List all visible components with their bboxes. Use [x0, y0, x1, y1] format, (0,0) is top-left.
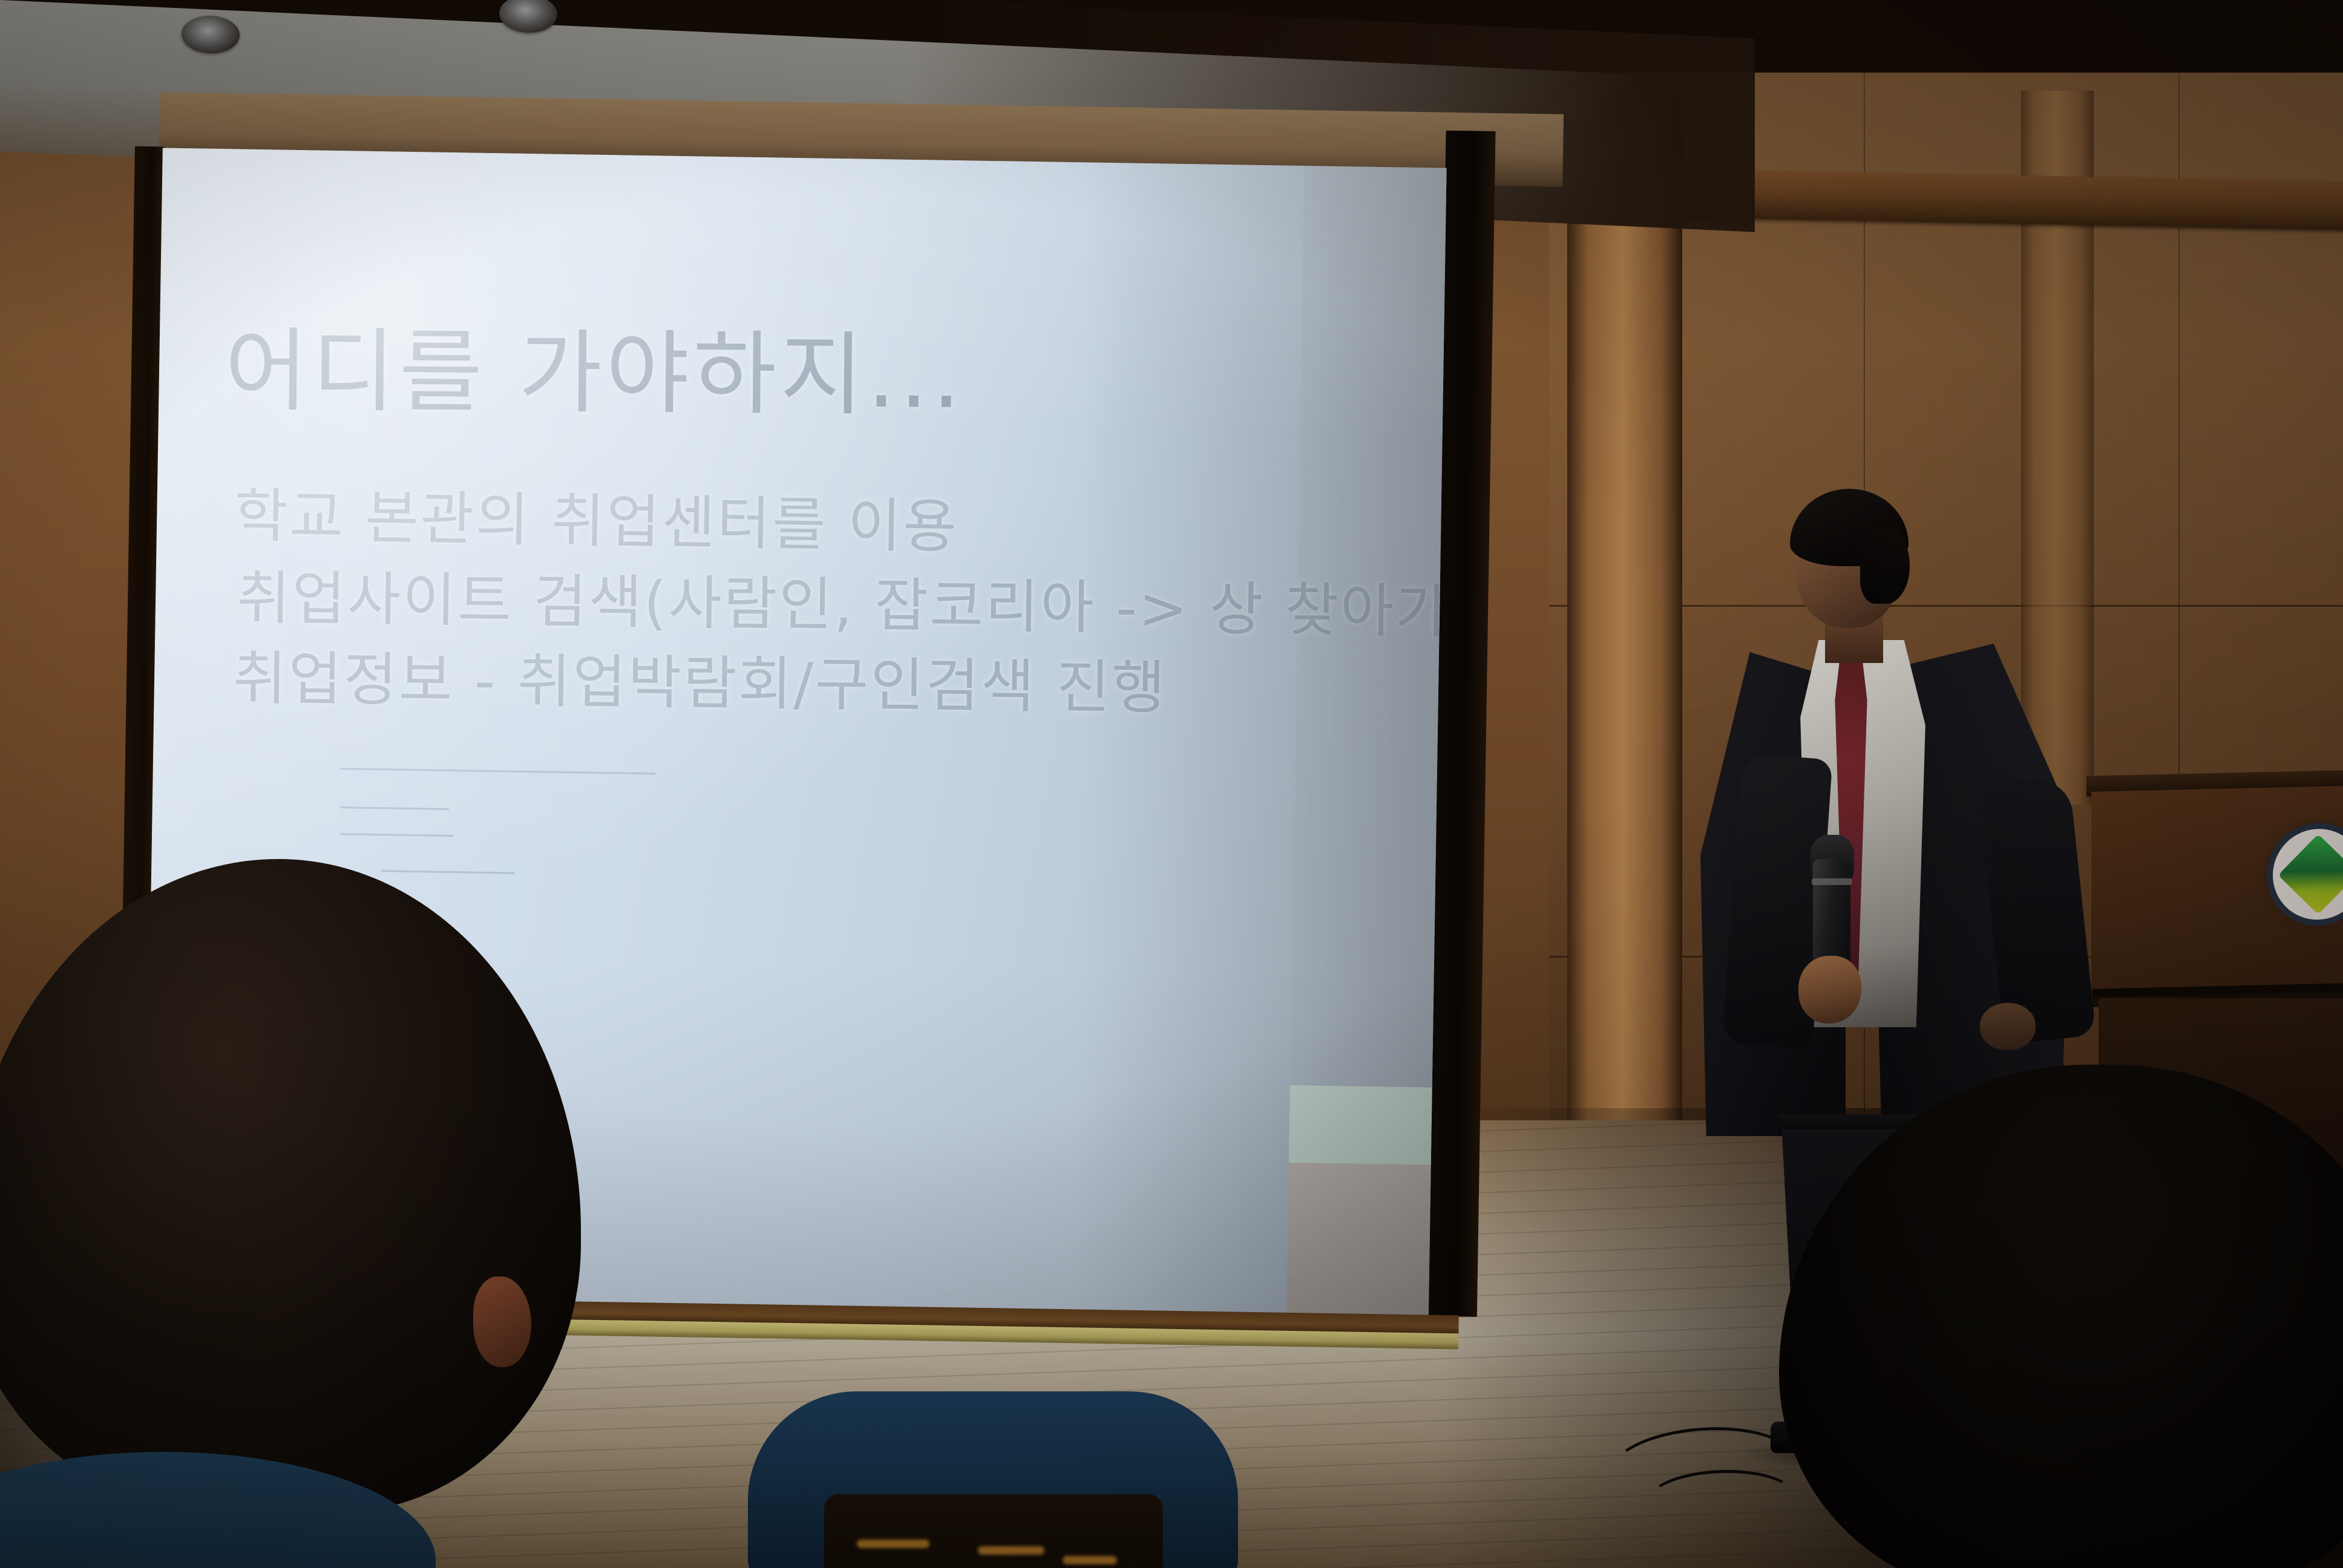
slide-body: 학교 본관의 취업센터를 이용 취업사이트 검색(사람인, 잡코리아 -> 상 … [231, 475, 1372, 733]
presenter-hand-on-hip [1980, 1003, 2036, 1050]
presenter-hair-side [1860, 525, 1910, 604]
audience-member-right [1755, 1065, 2343, 1568]
microphone-ring [1812, 878, 1852, 885]
crest-diamond-shape [2278, 834, 2343, 915]
slide-body-line-1: 학교 본관의 취업센터를 이용 [234, 475, 1372, 573]
audience-head-left [0, 859, 581, 1512]
slide-title: 어디를 가야하지... [224, 297, 965, 434]
presenter-hand-holding-mic [1798, 956, 1861, 1024]
auditorium-seat [748, 1391, 1238, 1568]
faded-table-rule [340, 806, 449, 810]
seat-highlight [857, 1540, 929, 1548]
slide-body-line-3: 취업정보 - 취업박람회/구인검색 진행 [232, 638, 1371, 730]
university-crest-icon [2273, 828, 2343, 921]
seat-highlight [978, 1546, 1044, 1555]
lectern-front-panel [2091, 786, 2343, 997]
slide-body-line-2: 취업사이트 검색(사람인, 잡코리아 -> 상 찾아가기 [236, 558, 1374, 651]
audience-head-right [1779, 1065, 2343, 1568]
audience-member-left [0, 859, 617, 1568]
slide-side-band-taupe [1286, 1163, 1431, 1318]
faded-table-rule [339, 833, 453, 837]
seat-highlight [1063, 1556, 1117, 1564]
faded-table-rule [341, 768, 655, 774]
lecture-hall-photo: 어디를 가야하지... 학교 본관의 취업센터를 이용 취업사이트 검색(사람인… [0, 0, 2343, 1568]
slide-side-band-mint [1289, 1085, 1432, 1165]
